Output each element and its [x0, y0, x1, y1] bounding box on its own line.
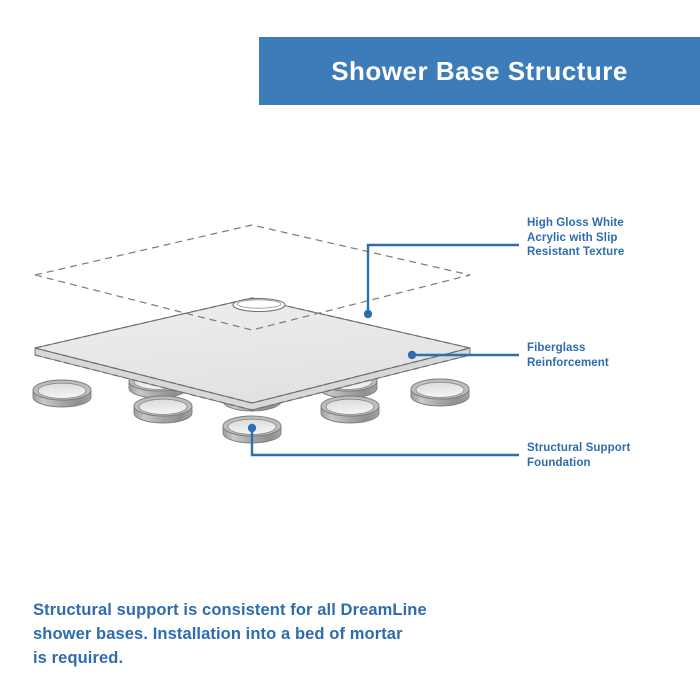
support-cylinder	[134, 396, 192, 423]
support-cylinder	[33, 380, 91, 407]
callout-dot-support	[248, 424, 256, 432]
callout-line-support	[248, 424, 519, 455]
callout-dot-acrylic	[364, 310, 372, 318]
support-cylinder	[411, 379, 469, 406]
callout-label-support: Structural Support Foundation	[527, 441, 630, 470]
footer-caption: Structural support is consistent for all…	[33, 598, 503, 670]
drain-hole	[233, 299, 285, 312]
callout-label-fiberglass: Fiberglass Reinforcement	[527, 341, 609, 370]
callout-label-acrylic: High Gloss White Acrylic with Slip Resis…	[527, 216, 624, 260]
header-banner: Shower Base Structure	[259, 37, 700, 105]
support-cylinder	[321, 396, 379, 423]
page-title: Shower Base Structure	[331, 56, 628, 87]
callout-dot-fiberglass	[408, 351, 416, 359]
fiberglass-slab	[35, 298, 470, 410]
